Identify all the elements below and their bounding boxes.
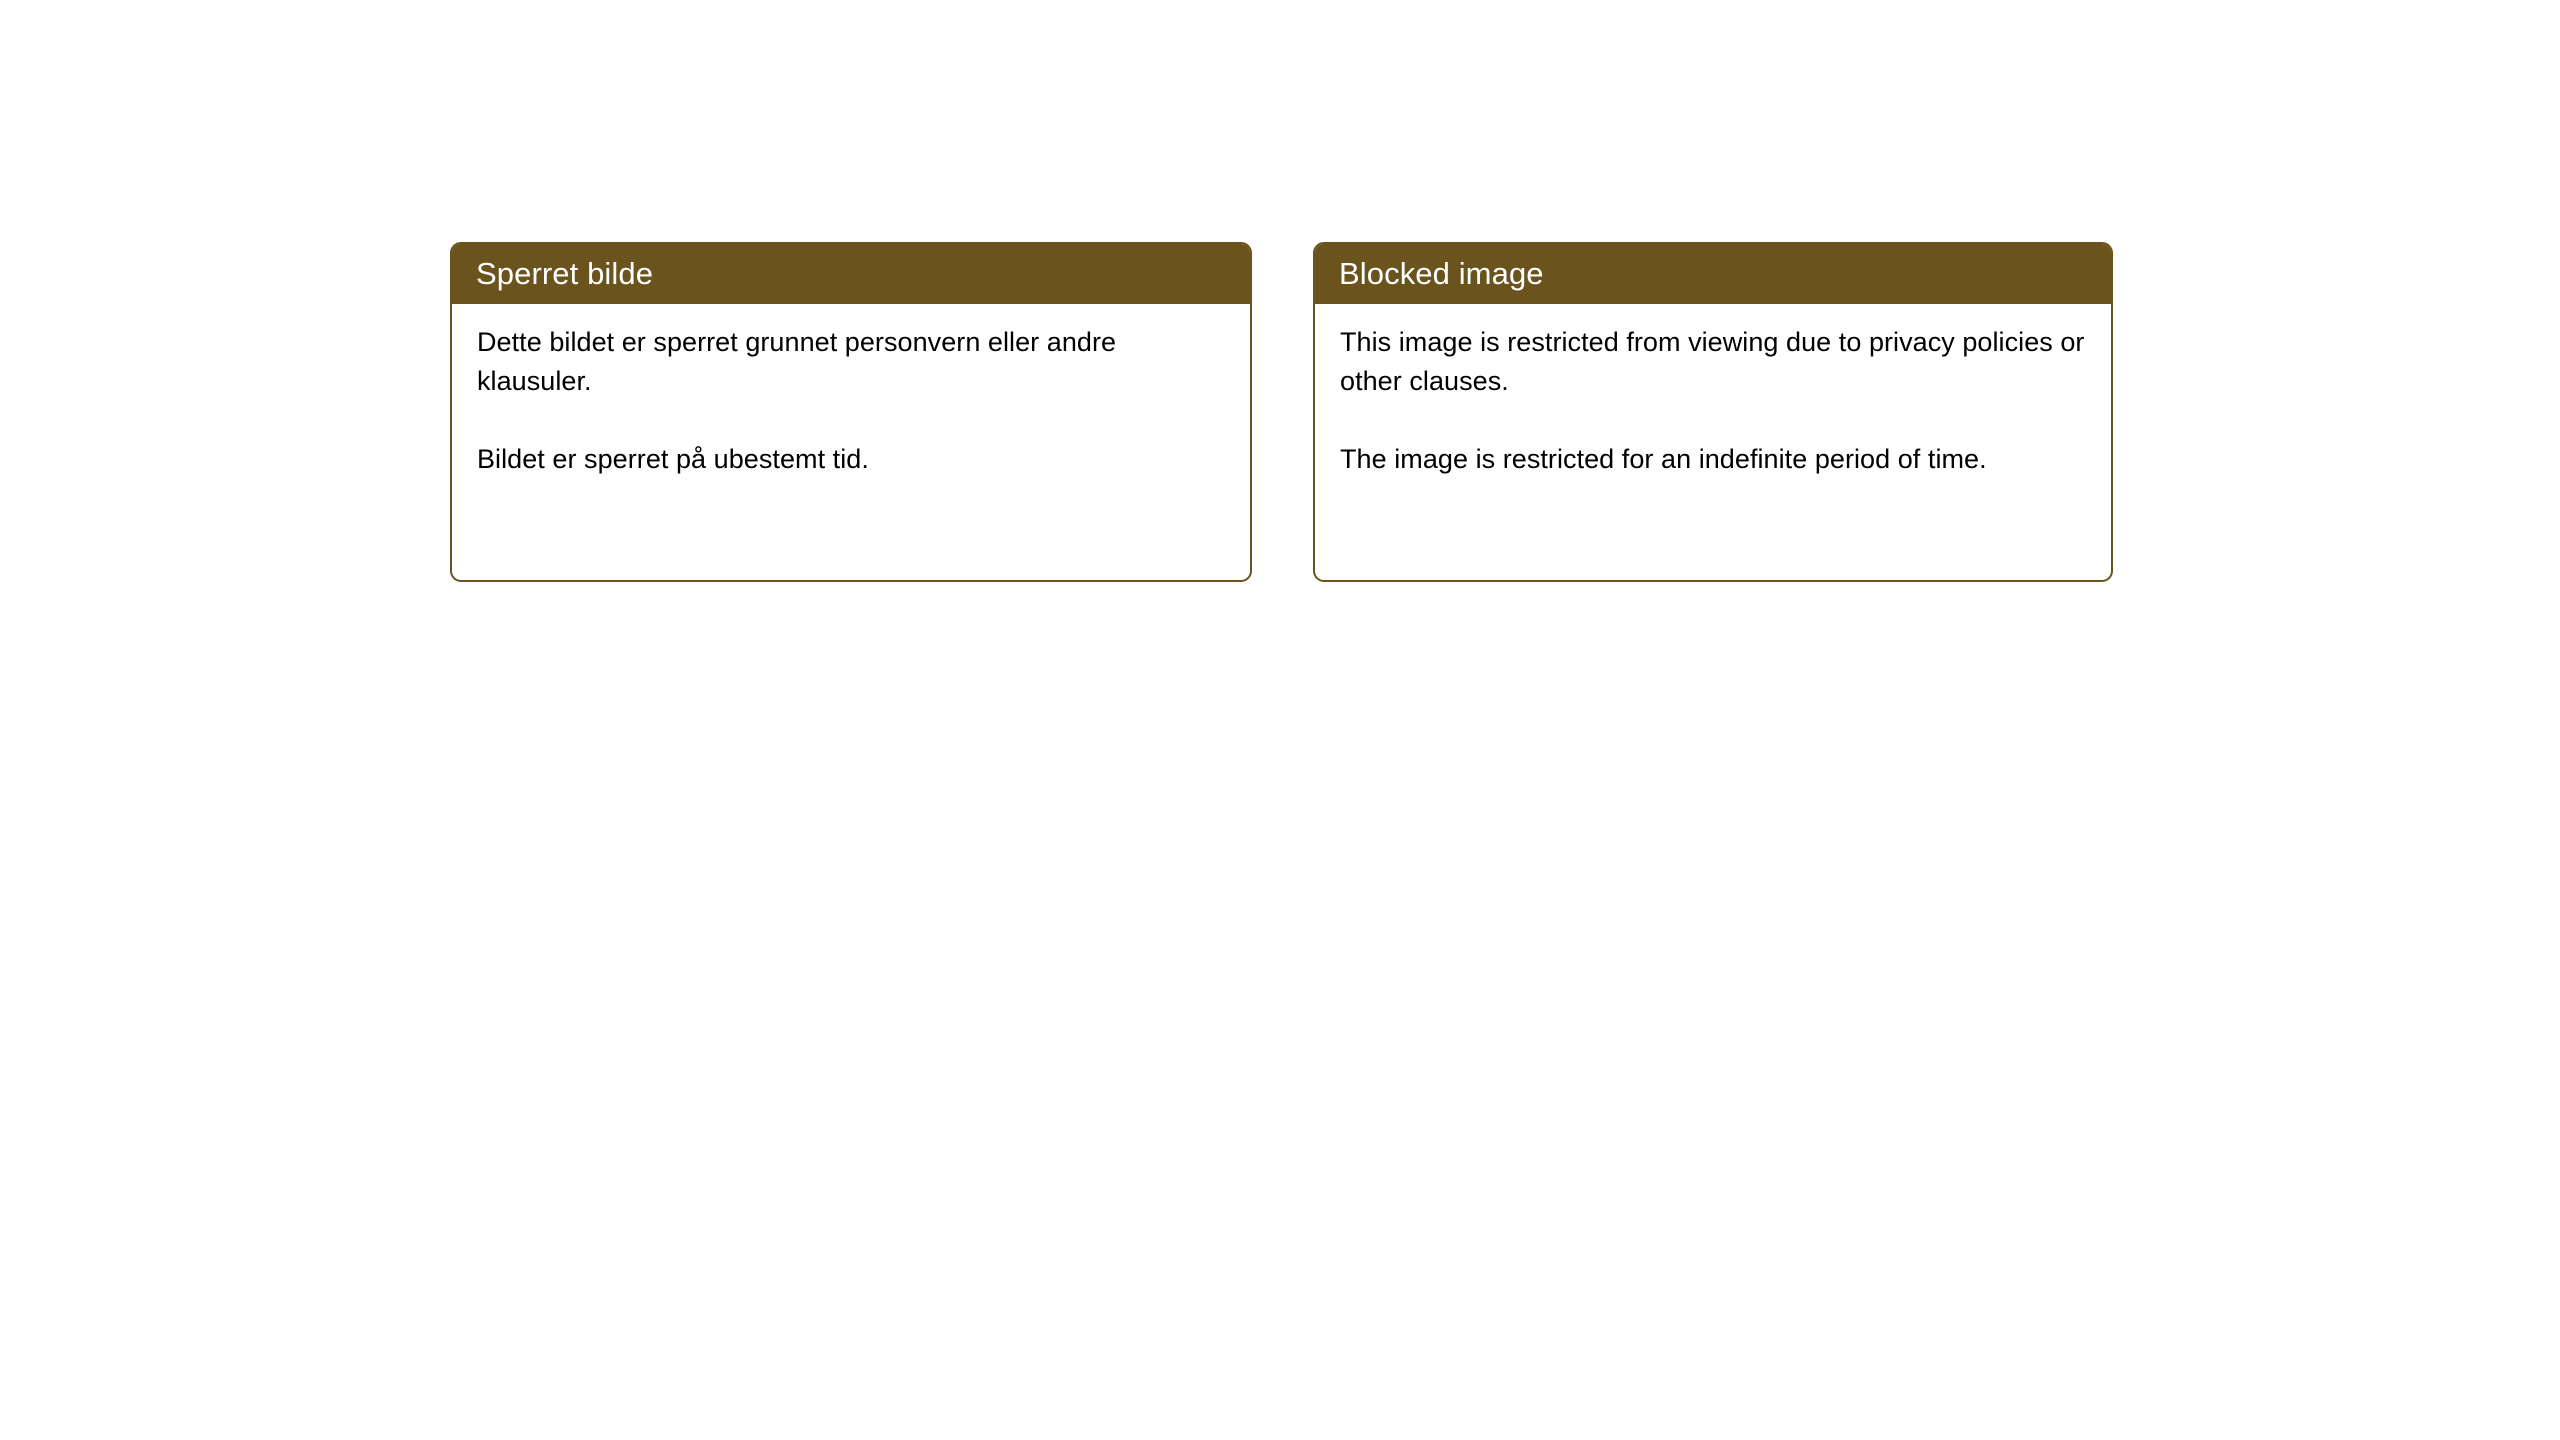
blocked-image-card-english: Blocked image This image is restricted f…	[1313, 242, 2113, 582]
blocked-image-card-norwegian: Sperret bilde Dette bildet er sperret gr…	[450, 242, 1252, 582]
card-paragraph-duration-english: The image is restricted for an indefinit…	[1340, 440, 2087, 479]
card-paragraph-reason-english: This image is restricted from viewing du…	[1340, 323, 2087, 401]
card-body-norwegian: Dette bildet er sperret grunnet personve…	[452, 304, 1250, 580]
card-title-norwegian: Sperret bilde	[476, 257, 653, 291]
card-title-english: Blocked image	[1339, 257, 1544, 291]
card-paragraph-duration-norwegian: Bildet er sperret på ubestemt tid.	[477, 440, 1226, 479]
blocked-image-notice-area: Sperret bilde Dette bildet er sperret gr…	[450, 242, 2113, 582]
card-paragraph-reason-norwegian: Dette bildet er sperret grunnet personve…	[477, 323, 1226, 401]
card-body-english: This image is restricted from viewing du…	[1315, 304, 2111, 580]
card-header-norwegian: Sperret bilde	[451, 243, 1251, 304]
card-header-english: Blocked image	[1314, 243, 2112, 304]
